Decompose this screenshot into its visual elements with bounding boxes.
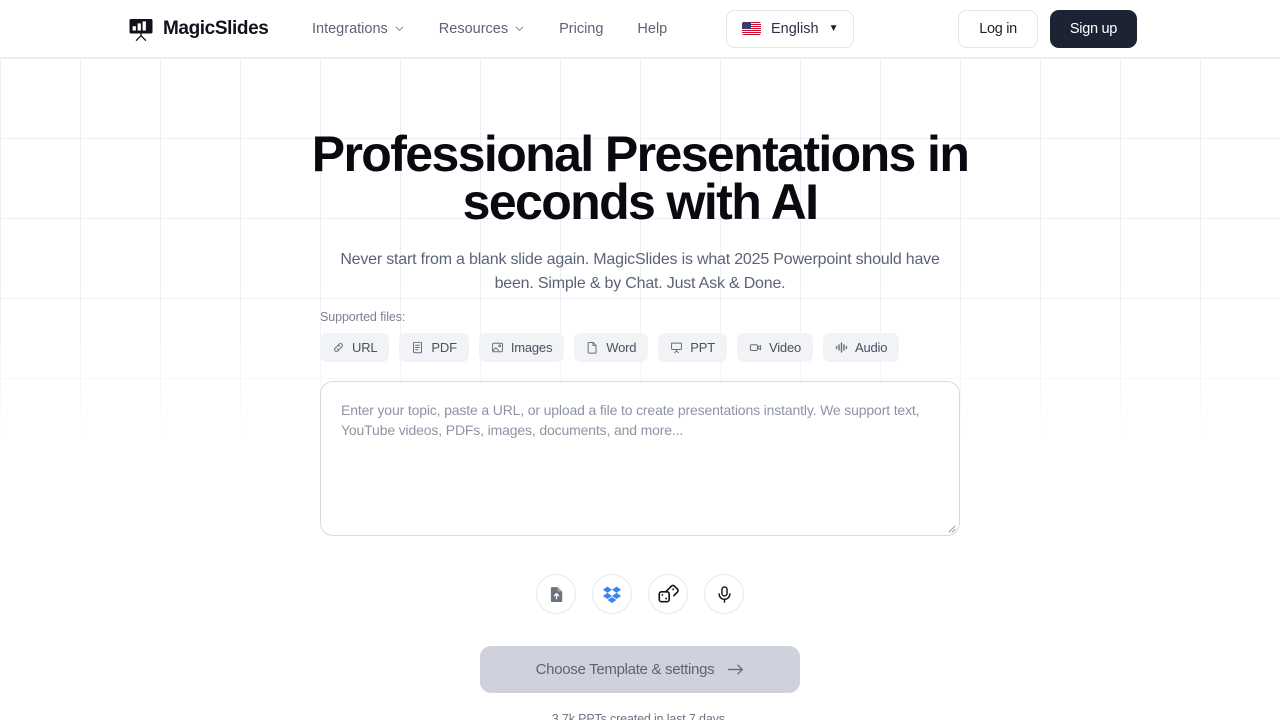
nav-label: Integrations xyxy=(312,21,388,37)
auth-actions: Log in Sign up xyxy=(958,10,1137,48)
nav-item-integrations[interactable]: Integrations xyxy=(312,21,405,37)
nav-item-pricing[interactable]: Pricing xyxy=(559,21,603,37)
file-text-icon xyxy=(411,341,424,354)
cta-label: Choose Template & settings xyxy=(536,661,715,678)
main-content: Professional Presentations in seconds wi… xyxy=(0,130,1280,720)
chip-label: PPT xyxy=(690,340,715,355)
audio-waveform-icon xyxy=(835,341,848,354)
page-title: Professional Presentations in seconds wi… xyxy=(290,130,990,226)
nav-label: Pricing xyxy=(559,21,603,37)
chip-label: Video xyxy=(769,340,801,355)
login-button[interactable]: Log in xyxy=(958,10,1038,48)
brand-logo-link[interactable]: MagicSlides xyxy=(128,16,268,42)
nav-label: Resources xyxy=(439,21,508,37)
chip-label: Audio xyxy=(855,340,887,355)
microphone-button[interactable] xyxy=(704,574,744,614)
file-upload-button[interactable] xyxy=(536,574,576,614)
microphone-icon xyxy=(715,585,734,604)
dropbox-button[interactable] xyxy=(592,574,632,614)
arrow-right-icon xyxy=(727,663,744,676)
supported-files-chips: URL PDF Images Word xyxy=(320,333,960,362)
dropbox-icon xyxy=(602,585,622,604)
chip-label: Word xyxy=(606,340,636,355)
composer-input[interactable] xyxy=(320,381,960,536)
file-upload-icon xyxy=(547,585,566,604)
video-camera-icon xyxy=(749,341,762,354)
choose-template-button[interactable]: Choose Template & settings xyxy=(480,646,800,693)
chip-ppt[interactable]: PPT xyxy=(658,333,727,362)
signup-button[interactable]: Sign up xyxy=(1050,10,1137,48)
chip-video[interactable]: Video xyxy=(737,333,813,362)
us-flag-icon xyxy=(742,22,761,35)
page-subtitle: Never start from a blank slide again. Ma… xyxy=(330,248,950,296)
chip-pdf[interactable]: PDF xyxy=(399,333,468,362)
site-header: MagicSlides Integrations Resources Prici… xyxy=(0,0,1280,58)
ppt-count-footnote: 3.7k PPTs created in last 7 days. xyxy=(320,712,960,720)
chevron-down-icon xyxy=(394,23,405,34)
composer-input-wrap xyxy=(320,381,960,536)
google-drive-button[interactable] xyxy=(648,574,688,614)
main-nav: Integrations Resources Pricing Help xyxy=(312,21,667,37)
google-drive-icon xyxy=(658,584,679,604)
chip-word[interactable]: Word xyxy=(574,333,648,362)
document-icon xyxy=(586,341,599,354)
caret-down-icon: ▼ xyxy=(829,24,839,34)
composer-tools xyxy=(320,574,960,614)
cta-wrap: Choose Template & settings xyxy=(320,646,960,693)
composer-panel: Supported files: URL PDF Images xyxy=(320,296,960,720)
chip-label: URL xyxy=(352,340,377,355)
language-selector[interactable]: English ▼ xyxy=(726,10,854,48)
chevron-down-icon xyxy=(514,23,525,34)
chip-audio[interactable]: Audio xyxy=(823,333,899,362)
language-label: English xyxy=(771,21,819,37)
nav-item-help[interactable]: Help xyxy=(637,21,667,37)
presentation-screen-icon xyxy=(670,341,683,354)
brand-name: MagicSlides xyxy=(163,18,268,40)
presentation-board-icon xyxy=(128,16,154,42)
image-icon xyxy=(491,341,504,354)
chip-url[interactable]: URL xyxy=(320,333,389,362)
nav-label: Help xyxy=(637,21,667,37)
chip-label: PDF xyxy=(431,340,456,355)
chip-label: Images xyxy=(511,340,552,355)
chip-images[interactable]: Images xyxy=(479,333,564,362)
supported-files-label: Supported files: xyxy=(320,310,960,324)
link-icon xyxy=(332,341,345,354)
nav-item-resources[interactable]: Resources xyxy=(439,21,525,37)
